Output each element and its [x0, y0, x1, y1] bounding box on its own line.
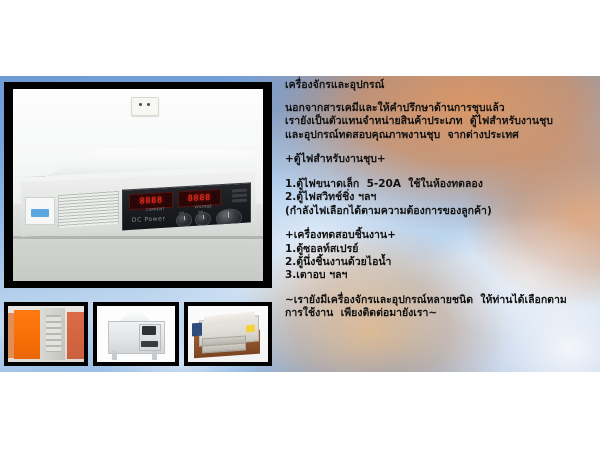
slide-title: เครื่องจักรและอุปกรณ์ [285, 79, 384, 92]
t1-background-equipment [67, 312, 84, 359]
section-2-heading: +เครื่องทดสอบชิ้นงาน+ [285, 229, 597, 242]
closing-line-2: การใช้งาน เพียงติดต่อมายังเรา~ [285, 307, 597, 320]
dc-power-supply-photo: 8888 8888 CURRENT VOLTAGE [13, 89, 263, 281]
thumbnail-drying-oven [184, 302, 272, 366]
description-text-column: เครื่องจักรและอุปกรณ์ นอกจากสารเคมีและให… [285, 76, 597, 372]
page-root: 8888 8888 CURRENT VOLTAGE [0, 0, 600, 450]
section-2-item-3: 3.เตาอบ ฯลฯ [285, 269, 597, 282]
t1-cabinet-vents [46, 315, 61, 352]
thumbnail-2-image [97, 306, 175, 362]
status-indicator-leds [232, 189, 247, 203]
psu-brand-label: DC Power [131, 216, 165, 225]
psu-control-panel: 8888 8888 CURRENT VOLTAGE [122, 182, 251, 235]
thumbnail-salt-spray-chamber [93, 302, 179, 366]
t3-warning-label [246, 325, 255, 333]
wall-socket [131, 97, 159, 116]
coarse-adjust-knob [195, 212, 211, 226]
psu-front-face: 8888 8888 CURRENT VOLTAGE [21, 170, 256, 237]
psu-breaker-switch [31, 209, 48, 218]
t3-control-box [192, 322, 202, 336]
power-supply-unit: 8888 8888 CURRENT VOLTAGE [21, 147, 256, 237]
main-output-knob [215, 208, 241, 228]
section-1-item-1: 1.ตู้ไฟขนาดเล็ก 5-20A ใช้ในห้องทดลอง [285, 178, 597, 191]
status-led-1 [232, 189, 247, 193]
section-1-heading: +ตู้ไฟสำหรับงานชุบ+ [285, 153, 597, 166]
intro-line-3: และอุปกรณ์ทดสอบคุณภาพงานชุบ จากต่างประเท… [285, 129, 597, 142]
section-2-item-1: 1.ตู้ซอลท์สเปรย์ [285, 243, 597, 256]
t2-leg-left [112, 351, 117, 360]
thumbnail-1-image [8, 306, 84, 362]
thumbnail-plating-cabinet [4, 302, 88, 366]
fine-adjust-knob [176, 213, 192, 227]
intro-line-2: เรายังเป็นตัวแทนจำหน่ายสินค้าประเภท ตู้ไ… [285, 115, 597, 128]
section-1-item-3: (กำลังไฟเลือกได้ตามความต้องการของลูกค้า) [285, 205, 597, 218]
thumbnail-3-image [188, 306, 268, 362]
promotional-slide: 8888 8888 CURRENT VOLTAGE [0, 76, 600, 372]
status-led-3 [232, 198, 247, 202]
intro-line-1: นอกจากสารเคมีและให้คำปรึกษาด้านการชุบแล้… [285, 102, 597, 115]
section-1-item-2: 2.ตู้ไฟสวิทช์ชิ่ง ฯลฯ [285, 191, 597, 204]
main-photo-frame: 8888 8888 CURRENT VOLTAGE [4, 82, 272, 288]
photo-column: 8888 8888 CURRENT VOLTAGE [4, 82, 276, 366]
psu-top-surface [21, 147, 256, 178]
slide-body: นอกจากสารเคมีและให้คำปรึกษาด้านการชุบแล้… [285, 102, 597, 321]
t2-control-panel [141, 341, 158, 348]
voltage-display-value: 8888 [187, 194, 210, 203]
spacer-2 [285, 167, 597, 178]
spacer-3 [285, 218, 597, 229]
psu-breaker-housing [25, 197, 55, 226]
section-2-item-2: 2.ตู้นึ่งชิ้นงานด้วยไอน้ำ [285, 256, 597, 269]
t1-orange-cabinet [14, 310, 40, 358]
t2-leg-right [152, 351, 157, 360]
closing-line-1: ~เรายังมีเครื่องจักรและอุปกรณ์หลายชนิด ใ… [285, 294, 597, 307]
status-led-2 [232, 193, 247, 197]
spacer-4 [285, 283, 597, 294]
t2-control-display [142, 326, 156, 335]
spacer-1 [285, 142, 597, 153]
psu-ventilation-grille [58, 191, 119, 229]
current-display-value: 8888 [139, 196, 162, 205]
